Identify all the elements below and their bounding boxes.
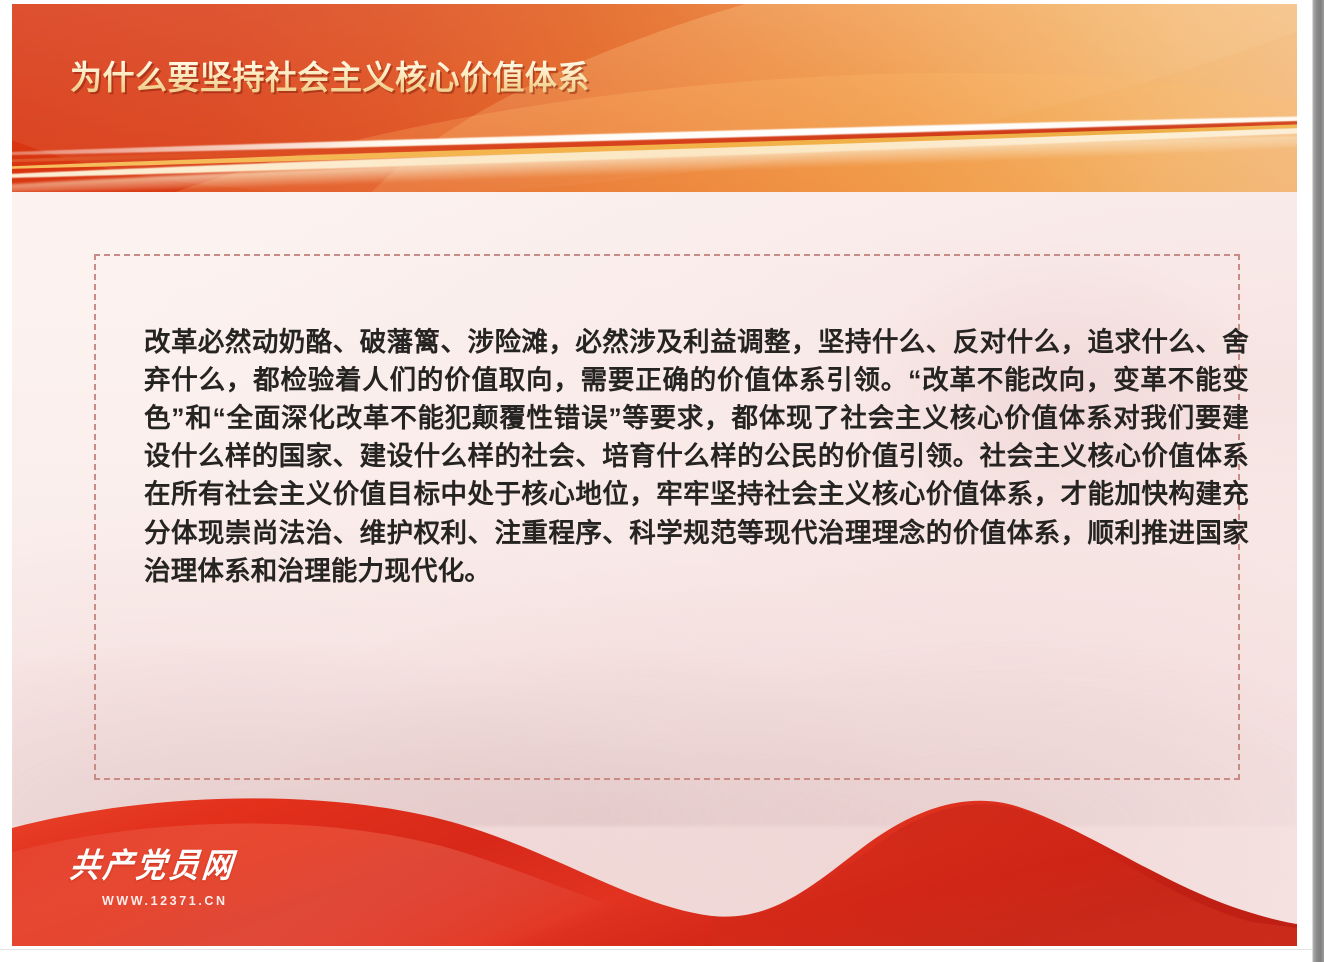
wave-shape-fold [712, 804, 1297, 946]
logo-url-text: WWW.12371.CN [102, 894, 278, 908]
body-paragraph: 改革必然动奶酪、破藩篱、涉险滩，必然涉及利益调整，坚持什么、反对什么，追求什么、… [144, 323, 1249, 590]
slide-canvas: 为什么要坚持社会主义核心价值体系 改革必然动奶酪、破藩篱、涉险滩，必然涉及利益调… [12, 4, 1297, 946]
header-banner: 为什么要坚持社会主义核心价值体系 [12, 4, 1297, 192]
logo-wordmark: 共产党员网 [68, 848, 282, 886]
vertical-scrollbar[interactable] [1312, 0, 1324, 962]
site-logo[interactable]: 共产党员网 WWW.12371.CN [68, 852, 278, 908]
viewer-bottom-rule [0, 949, 1312, 962]
page-title: 为什么要坚持社会主义核心价值体系 [70, 56, 590, 100]
slide-viewer: 为什么要坚持社会主义核心价值体系 改革必然动奶酪、破藩篱、涉险滩，必然涉及利益调… [0, 0, 1324, 962]
footer-red-silk-wave: 共产党员网 WWW.12371.CN [12, 756, 1297, 946]
